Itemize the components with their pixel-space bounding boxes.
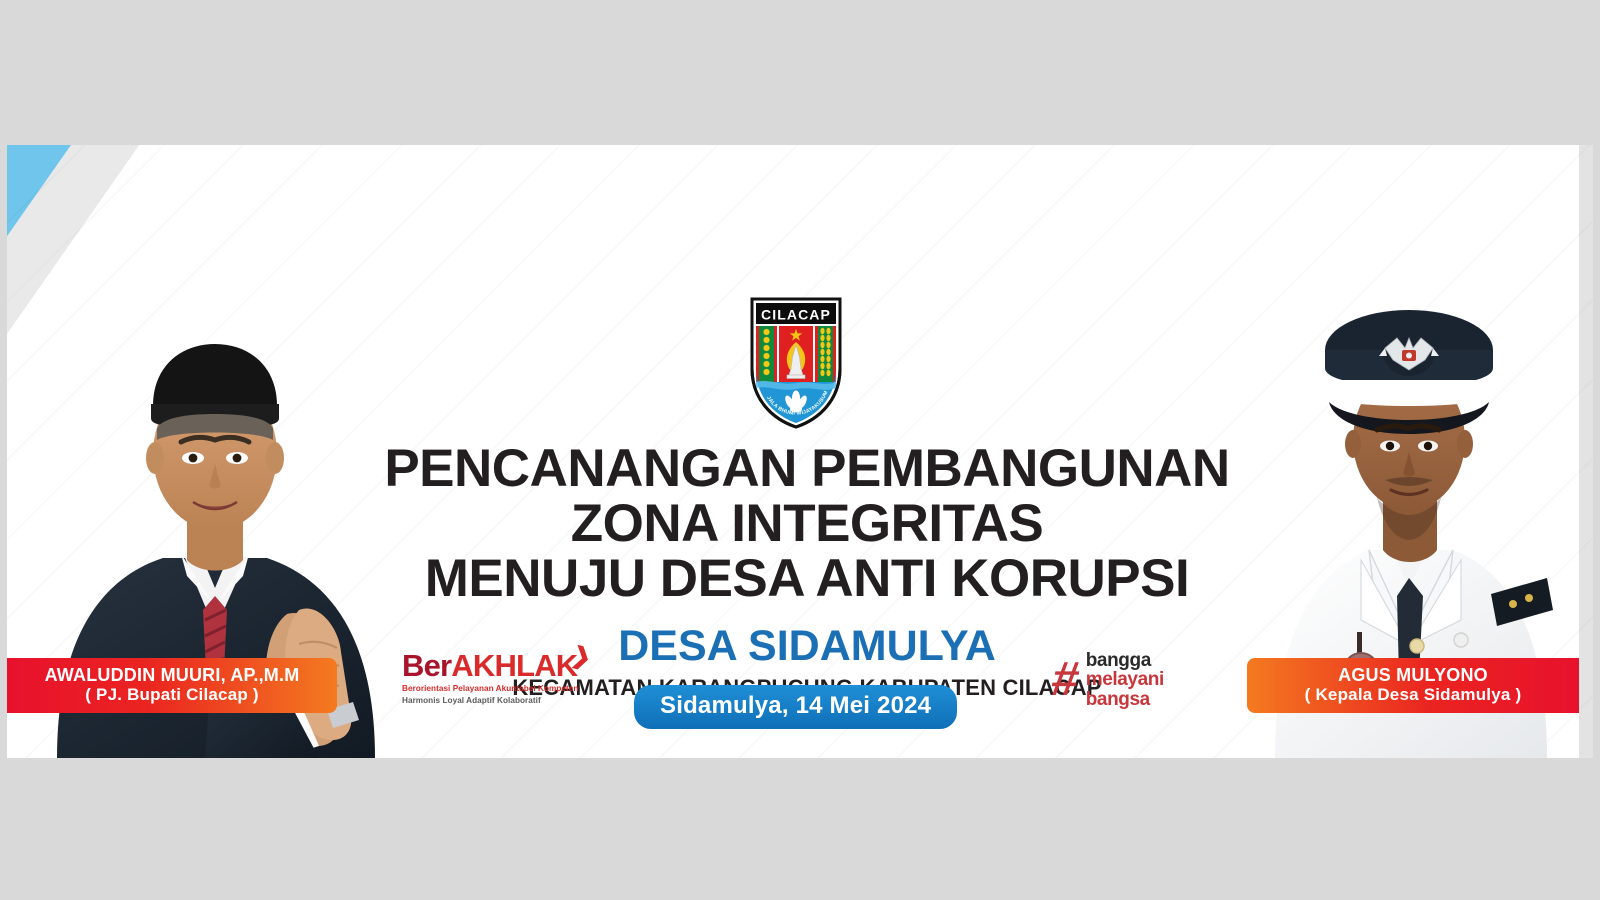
nameplate-right-role: ( Kepala Desa Sidamulya ) — [1261, 685, 1565, 704]
bangga-wordmark: bangga melayani bangsa — [1086, 651, 1164, 709]
bangga-melayani-bangsa-logo: # bangga melayani bangsa — [1052, 651, 1164, 709]
nameplate-left-role: ( PJ. Bupati Cilacap ) — [21, 685, 323, 704]
berakhlak-wordmark: BerAKHLAK — [402, 650, 587, 681]
hash-icon: # — [1049, 661, 1082, 699]
berakhlak-logo: BerAKHLAK ❯ Berorientasi Pelayanan Akunt… — [402, 650, 587, 705]
nameplate-right: AGUS MULYONO ( Kepala Desa Sidamulya ) — [1247, 658, 1579, 713]
berakhlak-word-akhlak: AKHLAK — [451, 648, 577, 683]
screenshot-stage: CILACAP — [0, 0, 1600, 900]
headline-line-3: MENUJU DESA ANTI KORUPSI — [307, 551, 1307, 606]
berakhlak-word-ber: Ber — [402, 648, 451, 683]
bangga-line-3: bangsa — [1086, 690, 1164, 709]
date-badge: Sidamulya, 14 Mei 2024 — [634, 685, 957, 729]
right-edge-strip — [1579, 145, 1593, 758]
nameplate-left: AWALUDDIN MUURI, AP.,M.M ( PJ. Bupati Ci… — [7, 658, 337, 713]
headline-line-1: PENCANANGAN PEMBANGUNAN — [307, 441, 1307, 496]
bangga-line-2: melayani — [1086, 670, 1164, 689]
svg-text:CILACAP: CILACAP — [761, 307, 831, 323]
berakhlak-tagline-1: Berorientasi Pelayanan Akuntabel Kompete… — [402, 684, 587, 693]
nameplate-right-name: AGUS MULYONO — [1261, 665, 1565, 685]
berakhlak-tagline-2: Harmonis Loyal Adaptif Kolaboratif — [402, 696, 587, 705]
nameplate-left-name: AWALUDDIN MUURI, AP.,M.M — [21, 665, 323, 685]
bangga-line-1: bangga — [1086, 651, 1164, 670]
cilacap-emblem-icon: CILACAP — [748, 295, 844, 431]
headline-line-2: ZONA INTEGRITAS — [307, 496, 1307, 551]
event-banner: CILACAP — [7, 145, 1593, 758]
